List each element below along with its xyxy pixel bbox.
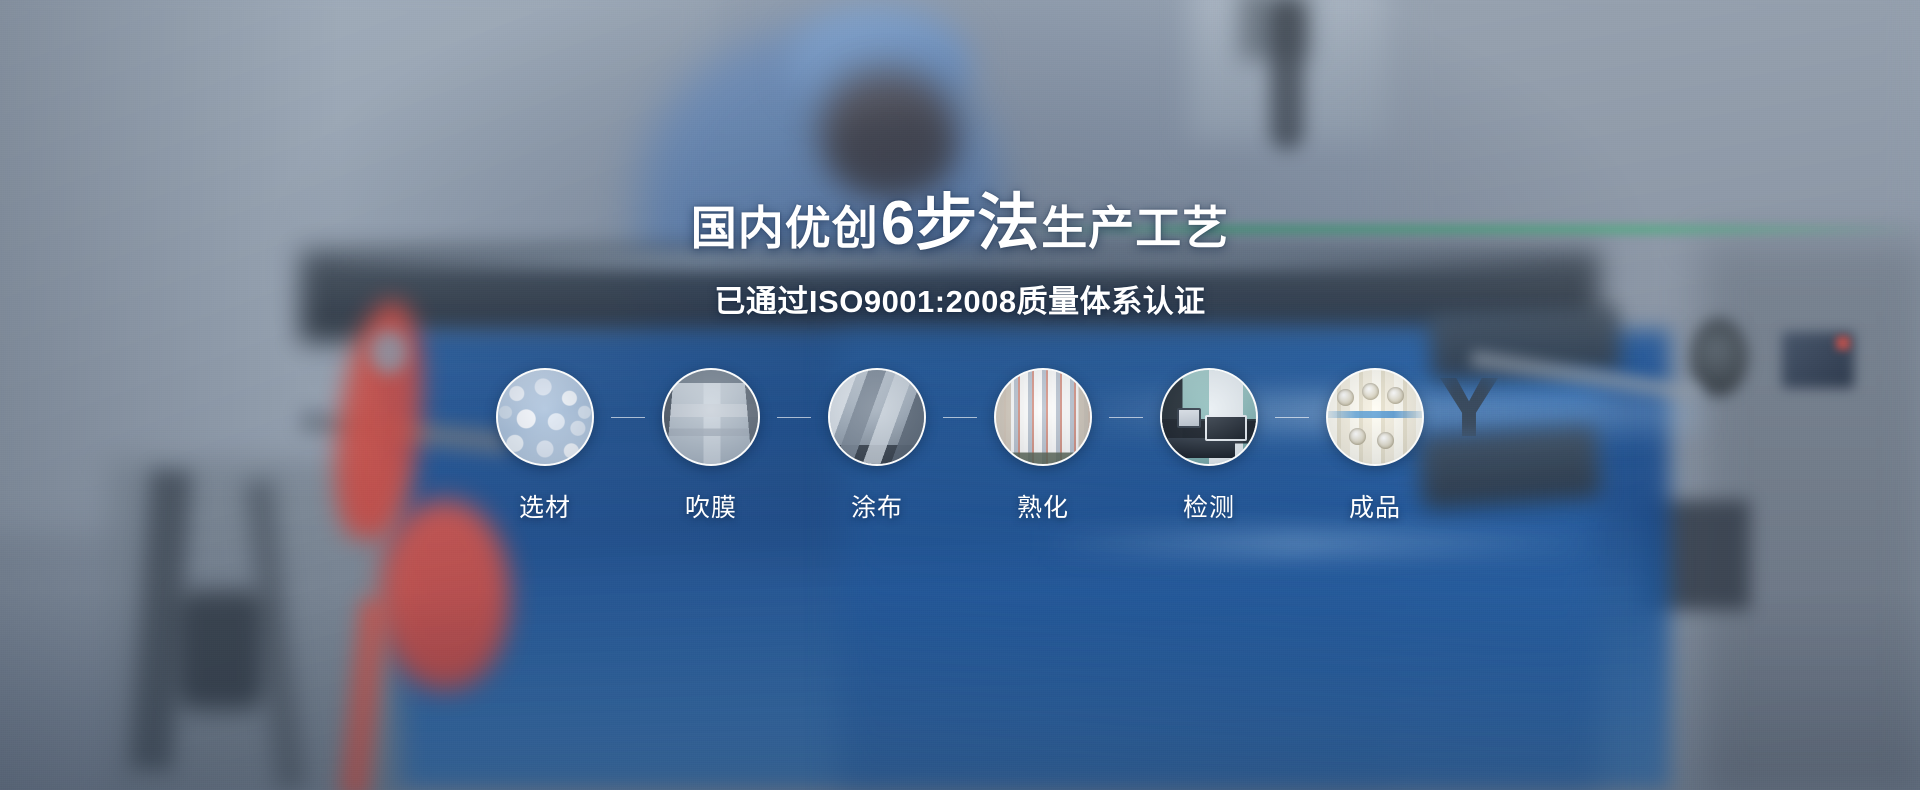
inspection-lab-icon[interactable] xyxy=(1160,368,1258,466)
process-steps: 选材 吹膜 涂布 xyxy=(485,368,1435,524)
plastic-pellets-icon[interactable] xyxy=(496,368,594,466)
step-label-4: 熟化 xyxy=(1017,488,1069,524)
step-connector-3 xyxy=(937,368,983,466)
step-label-5: 检测 xyxy=(1183,488,1235,524)
step-label-6: 成品 xyxy=(1349,488,1401,524)
film-blowing-machine-icon[interactable] xyxy=(662,368,760,466)
step-label-3: 涂布 xyxy=(851,488,903,524)
headline-part-1: 国内优创 xyxy=(691,205,879,251)
process-step-tubu[interactable]: 涂布 xyxy=(817,368,937,524)
headline-part-2: 生产工艺 xyxy=(1041,205,1229,251)
step-connector-4 xyxy=(1103,368,1149,466)
step-connector-2 xyxy=(771,368,817,466)
process-step-jiance[interactable]: 检测 xyxy=(1149,368,1269,524)
step-connector-5 xyxy=(1269,368,1315,466)
banner-content: 国内优创 6步法 生产工艺 已通过ISO9001:2008质量体系认证 选材 xyxy=(0,0,1920,790)
curing-room-icon[interactable] xyxy=(994,368,1092,466)
process-banner: 国内优创 6步法 生产工艺 已通过ISO9001:2008质量体系认证 选材 xyxy=(0,0,1920,790)
step-connector-1 xyxy=(605,368,651,466)
coating-roller-icon[interactable] xyxy=(828,368,926,466)
process-step-chuimo[interactable]: 吹膜 xyxy=(651,368,771,524)
subtitle: 已通过ISO9001:2008质量体系认证 xyxy=(714,276,1205,321)
headline-emphasis: 6步法 xyxy=(881,193,1039,255)
step-label-1: 选材 xyxy=(519,488,571,524)
headline: 国内优创 6步法 生产工艺 xyxy=(691,193,1229,255)
process-step-chengpin[interactable]: 成品 xyxy=(1315,368,1435,524)
finished-film-rolls-icon[interactable] xyxy=(1326,368,1424,466)
process-step-xuancai[interactable]: 选材 xyxy=(485,368,605,524)
step-label-2: 吹膜 xyxy=(685,488,737,524)
process-step-shuhua[interactable]: 熟化 xyxy=(983,368,1103,524)
